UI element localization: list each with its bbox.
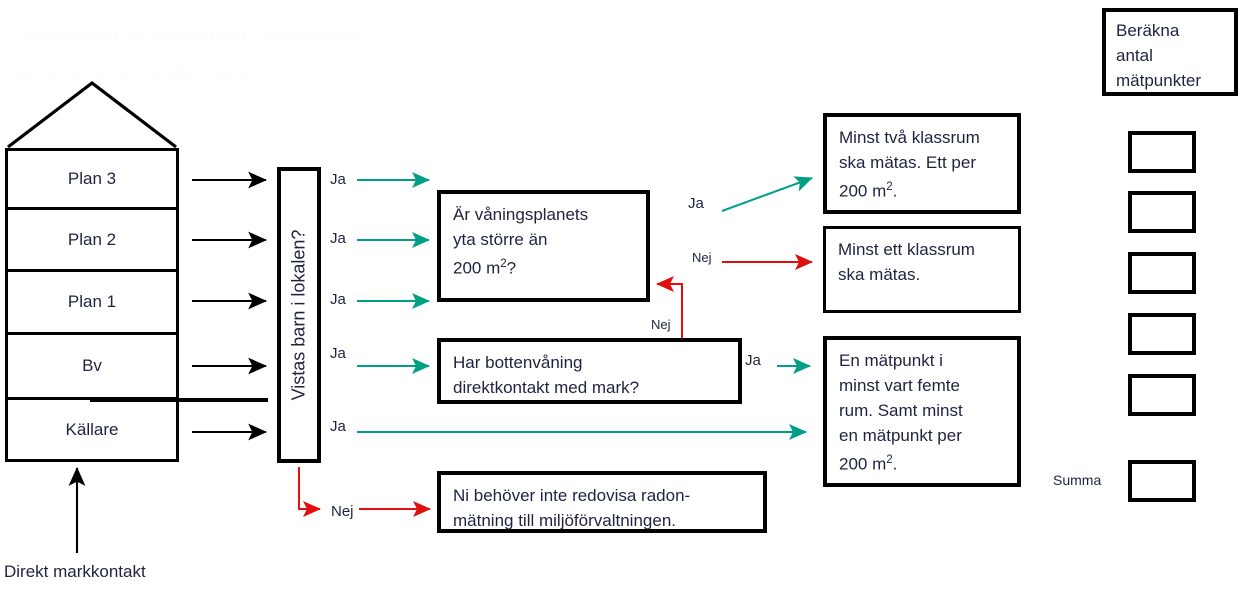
outcome-two-classrooms-line-3: 200 m2. bbox=[839, 175, 1007, 204]
house-floor-label: Plan 2 bbox=[68, 230, 116, 250]
house-floor-label: Källare bbox=[66, 420, 119, 440]
decision-floor-area-line-2: yta större än bbox=[453, 227, 636, 252]
house-floor-kallare: Källare bbox=[5, 400, 179, 462]
house-floor-plan-3: Plan 3 bbox=[5, 148, 179, 210]
outcome-one-classroom-line-1: Minst ett klassrum bbox=[838, 237, 1008, 262]
arrow-nej-decision-down bbox=[299, 467, 320, 509]
calculator-sum-field[interactable] bbox=[1128, 460, 1196, 502]
outcome-one-classroom: Minst ett klassrum ska mätas. bbox=[823, 226, 1021, 313]
outcome-two-classrooms-line-2: ska mätas. Ett per bbox=[839, 150, 1007, 175]
calculator-summa-label: Summa bbox=[1053, 472, 1101, 488]
page-title: Flödesschema för radonmätning i skola/fö… bbox=[14, 6, 534, 82]
page-title-line1: Flödesschema för radonmätning i skola/fö… bbox=[14, 26, 360, 43]
ground-contact-label: Direkt markkontakt bbox=[4, 562, 146, 582]
outcome-every-fifth-room: En mätpunkt i minst vart femte rum. Samt… bbox=[823, 336, 1021, 487]
arrow-ja-area-to-two-classrooms bbox=[722, 178, 812, 211]
decision-floor-area: Är våningsplanets yta större än 200 m2? bbox=[437, 190, 650, 302]
calculator-input-row-1[interactable] bbox=[1128, 131, 1196, 173]
house-floor-label: Plan 1 bbox=[68, 292, 116, 312]
edge-label-ja-plan1: Ja bbox=[330, 291, 346, 308]
decision-children-present: Vistas barn i lokalen? bbox=[277, 167, 321, 463]
calculator-input-row-3[interactable] bbox=[1128, 252, 1196, 294]
edge-label-ja-kallare: Ja bbox=[330, 418, 346, 435]
decision-ground-contact-line-1: Har bottenvåning bbox=[453, 350, 728, 375]
outcome-every-fifth-room-line-2: minst vart femte bbox=[839, 373, 1007, 398]
edge-label-nej-area-no: Nej bbox=[692, 250, 712, 265]
decision-ground-contact-line-2: direktkontakt med mark? bbox=[453, 375, 728, 400]
calculator-header-line-1: Beräkna bbox=[1116, 18, 1224, 43]
edge-label-ja-bv: Ja bbox=[330, 345, 346, 362]
outcome-two-classrooms: Minst två klassrum ska mätas. Ett per 20… bbox=[823, 113, 1021, 214]
calculator-header: Beräkna antal mätpunkter bbox=[1102, 8, 1238, 96]
house-floor-label: Plan 3 bbox=[68, 169, 116, 189]
flowchart-canvas: Flödesschema för radonmätning i skola/fö… bbox=[0, 0, 1246, 592]
outcome-every-fifth-room-line-4: en mätpunkt per bbox=[839, 423, 1007, 448]
edge-label-nej-feedback: Nej bbox=[651, 317, 671, 332]
decision-floor-area-line-1: Är våningsplanets bbox=[453, 202, 636, 227]
house-floor-plan-1: Plan 1 bbox=[5, 272, 179, 335]
outcome-every-fifth-room-line-5: 200 m2. bbox=[839, 448, 1007, 477]
calculator-header-line-3: mätpunkter bbox=[1116, 68, 1224, 93]
outcome-two-classrooms-line-1: Minst två klassrum bbox=[839, 125, 1007, 150]
outcome-one-classroom-line-2: ska mätas. bbox=[838, 262, 1008, 287]
decision-children-present-label: Vistas barn i lokalen? bbox=[289, 230, 310, 401]
calculator-input-row-2[interactable] bbox=[1128, 191, 1196, 233]
outcome-no-report-line-2: mätning till miljöförvaltningen. bbox=[453, 508, 753, 533]
decision-floor-area-line-3: 200 m2? bbox=[453, 252, 636, 281]
edge-label-nej-bottom: Nej bbox=[331, 503, 354, 520]
outcome-every-fifth-room-line-3: rum. Samt minst bbox=[839, 398, 1007, 423]
house-roof-icon bbox=[5, 78, 179, 150]
outcome-every-fifth-room-line-1: En mätpunkt i bbox=[839, 348, 1007, 373]
edge-label-ja-plan2: Ja bbox=[330, 230, 346, 247]
ground-contact-line bbox=[90, 398, 268, 402]
decision-ground-contact: Har bottenvåning direktkontakt med mark? bbox=[437, 338, 742, 404]
outcome-no-report: Ni behöver inte redovisa radon- mätning … bbox=[437, 471, 767, 533]
calculator-input-row-5[interactable] bbox=[1128, 374, 1196, 416]
house-floor-bv: Bv bbox=[5, 335, 179, 400]
house-floor-label: Bv bbox=[82, 356, 102, 376]
outcome-no-report-line-1: Ni behöver inte redovisa radon- bbox=[453, 483, 753, 508]
edge-label-ja-plan3: Ja bbox=[330, 171, 346, 188]
edge-label-ja-area-yes: Ja bbox=[688, 195, 704, 212]
calculator-header-line-2: antal bbox=[1116, 43, 1224, 68]
edge-label-ja-ground-yes: Ja bbox=[745, 352, 761, 369]
calculator-input-row-4[interactable] bbox=[1128, 313, 1196, 355]
house-floor-plan-2: Plan 2 bbox=[5, 210, 179, 272]
